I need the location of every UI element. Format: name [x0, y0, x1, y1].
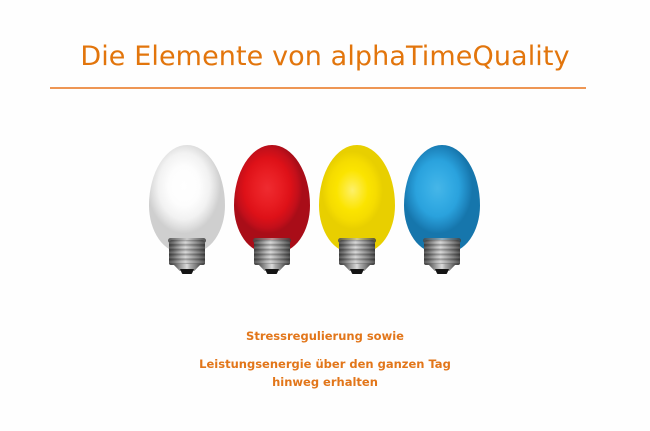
bulb-glass-fill	[404, 145, 480, 253]
bulb-base-threads	[169, 240, 205, 265]
slide-canvas: Die Elemente von alphaTimeQuality	[0, 0, 650, 431]
bulb-base-threads	[254, 240, 290, 265]
bulb-base-threads	[339, 240, 375, 265]
bulb-base-threads	[424, 240, 460, 265]
bulb-row	[0, 145, 650, 285]
page-title: Die Elemente von alphaTimeQuality	[0, 40, 650, 74]
bulb-screw-base	[339, 240, 375, 273]
caption-line-1: Stressregulierung sowie	[0, 327, 650, 345]
caption-line-3: hinweg erhalten	[0, 373, 650, 391]
bulb-screw-base	[254, 240, 290, 273]
bulb-base-contact-tip	[265, 269, 279, 274]
bulb-base-contact-tip	[350, 269, 364, 274]
bulb-glass-blue	[404, 145, 480, 253]
bulb-yellow	[318, 145, 396, 285]
bulb-base-contact-tip	[435, 269, 449, 274]
bulb-glass-fill	[319, 145, 395, 253]
caption-block: Stressregulierung sowie Leistungsenergie…	[0, 327, 650, 391]
bulb-glass-red	[234, 145, 310, 253]
caption-line-2: Leistungsenergie über den ganzen Tag	[0, 355, 650, 373]
bulb-base-contact-tip	[180, 269, 194, 274]
bulb-glass-fill	[149, 145, 225, 253]
bulb-red	[233, 145, 311, 285]
bulb-white	[148, 145, 226, 285]
bulb-glass-white	[149, 145, 225, 253]
title-block: Die Elemente von alphaTimeQuality	[0, 40, 650, 74]
bulb-blue	[403, 145, 481, 285]
title-divider	[50, 87, 586, 89]
bulb-screw-base	[424, 240, 460, 273]
bulb-glass-fill	[234, 145, 310, 253]
bulb-glass-yellow	[319, 145, 395, 253]
bulb-screw-base	[169, 240, 205, 273]
